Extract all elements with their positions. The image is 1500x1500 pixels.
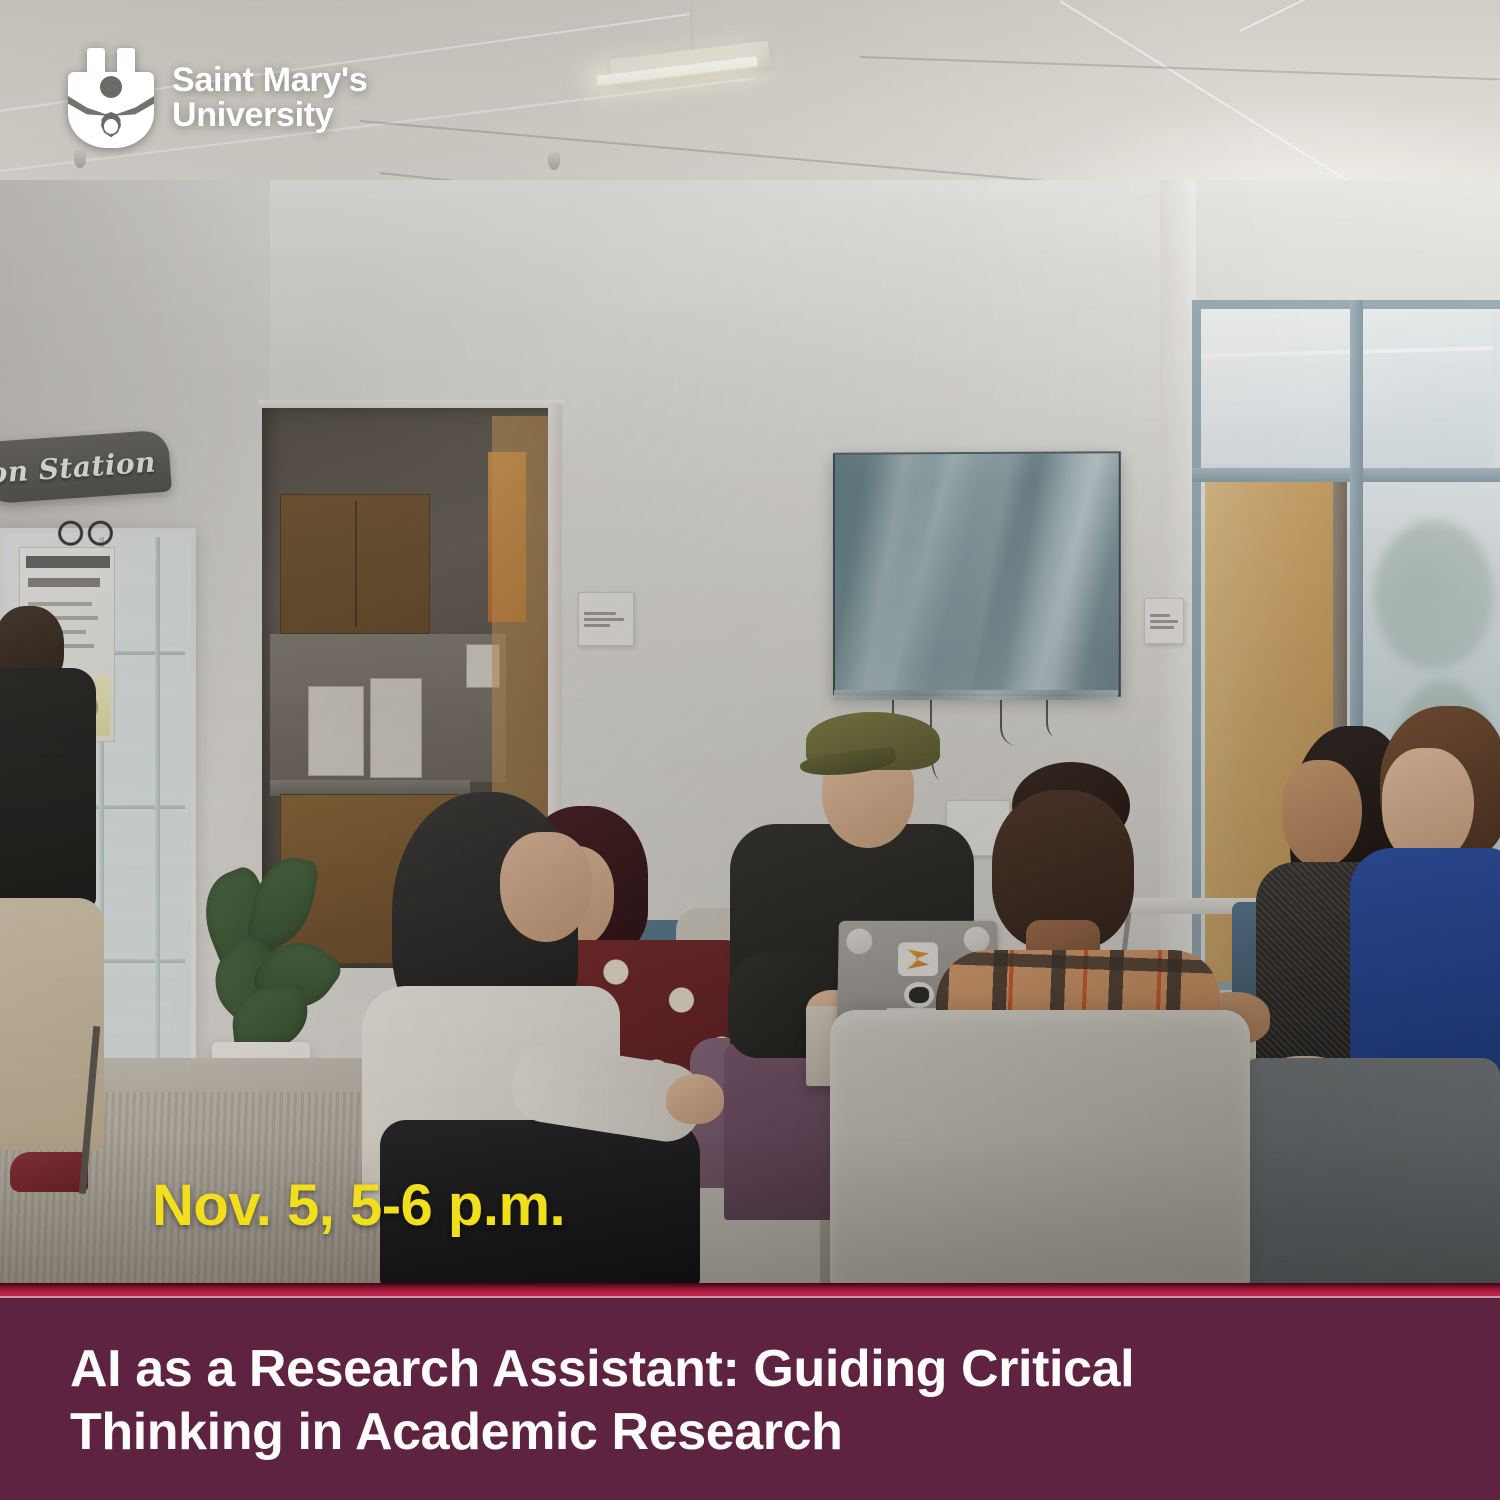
poster-title-text <box>28 578 100 587</box>
plaque-text-line <box>1150 620 1178 623</box>
wall-plaque-workspace-sign <box>1144 598 1184 644</box>
wall-mounted-display <box>833 451 1121 697</box>
shield-tab <box>87 48 105 74</box>
laptop-sticker-round <box>846 929 872 955</box>
shield-orb <box>100 76 122 98</box>
plaque-text-line <box>584 618 624 621</box>
armchair-right <box>1242 1058 1500 1284</box>
display-cable <box>1046 700 1066 736</box>
logo-wordmark-line2: University <box>172 98 367 133</box>
plaque-text-line <box>584 612 616 615</box>
tree-outside <box>1374 520 1494 670</box>
logo-wordmark-line1: Saint Mary's <box>172 63 367 98</box>
logo-wordmark: Saint Mary's University <box>172 63 367 134</box>
plaque-text-line <box>1150 626 1174 629</box>
transom-rail <box>1192 468 1500 482</box>
event-title: AI as a Research Assistant: Guiding Crit… <box>70 1338 1430 1465</box>
event-title-banner: AI as a Research Assistant: Guiding Crit… <box>0 1298 1500 1500</box>
wall-plaque-room-sign <box>578 592 634 646</box>
armchair-foreground <box>830 1010 1250 1284</box>
shield-top-tabs <box>87 48 135 74</box>
student-hijab-hand <box>666 1074 724 1124</box>
event-title-line1: AI as a Research Assistant: Guiding Crit… <box>70 1338 1430 1401</box>
display-bottom-edge <box>834 690 1118 700</box>
plaque-text-line <box>1150 614 1170 617</box>
transom-glass <box>1201 309 1493 464</box>
bicycle-photo-icon <box>52 508 114 550</box>
person-left-edge-torso <box>0 668 96 908</box>
student-hijab-face <box>500 832 592 942</box>
orange-bird-sticker-icon <box>898 942 938 976</box>
sprinkler-head-icon <box>548 152 560 170</box>
plaque-text-line <box>584 624 610 627</box>
information-station-sign-text: ation Station <box>0 445 157 493</box>
saint-marys-university-logo: Saint Mary's University <box>68 48 367 148</box>
event-poster: ation Station <box>0 0 1500 1500</box>
event-title-line2: Thinking in Academic Research <box>70 1401 1430 1464</box>
laptop-sticker-round <box>964 927 990 953</box>
poster-body-line <box>28 602 92 606</box>
light-fixture-stem <box>690 0 693 52</box>
smu-shield-icon <box>68 48 154 148</box>
kitchen-supply-box <box>370 678 422 778</box>
event-date-overlay: Nov. 5, 5-6 p.m. <box>152 1172 565 1239</box>
kitchen-upper-cabinet <box>280 494 430 634</box>
display-reflection <box>835 453 1119 694</box>
person-left-edge-shoe <box>10 1152 88 1192</box>
kitchen-supply-box <box>308 686 364 776</box>
husky-mascot-sticker-icon <box>904 982 934 1008</box>
sprinkler-head-icon <box>74 150 86 168</box>
event-photo: ation Station <box>0 0 1500 1284</box>
banner-accent-stripe <box>0 1283 1500 1296</box>
display-cable <box>1000 700 1044 746</box>
poster-header-band <box>26 556 110 568</box>
shield-tab <box>117 48 135 74</box>
